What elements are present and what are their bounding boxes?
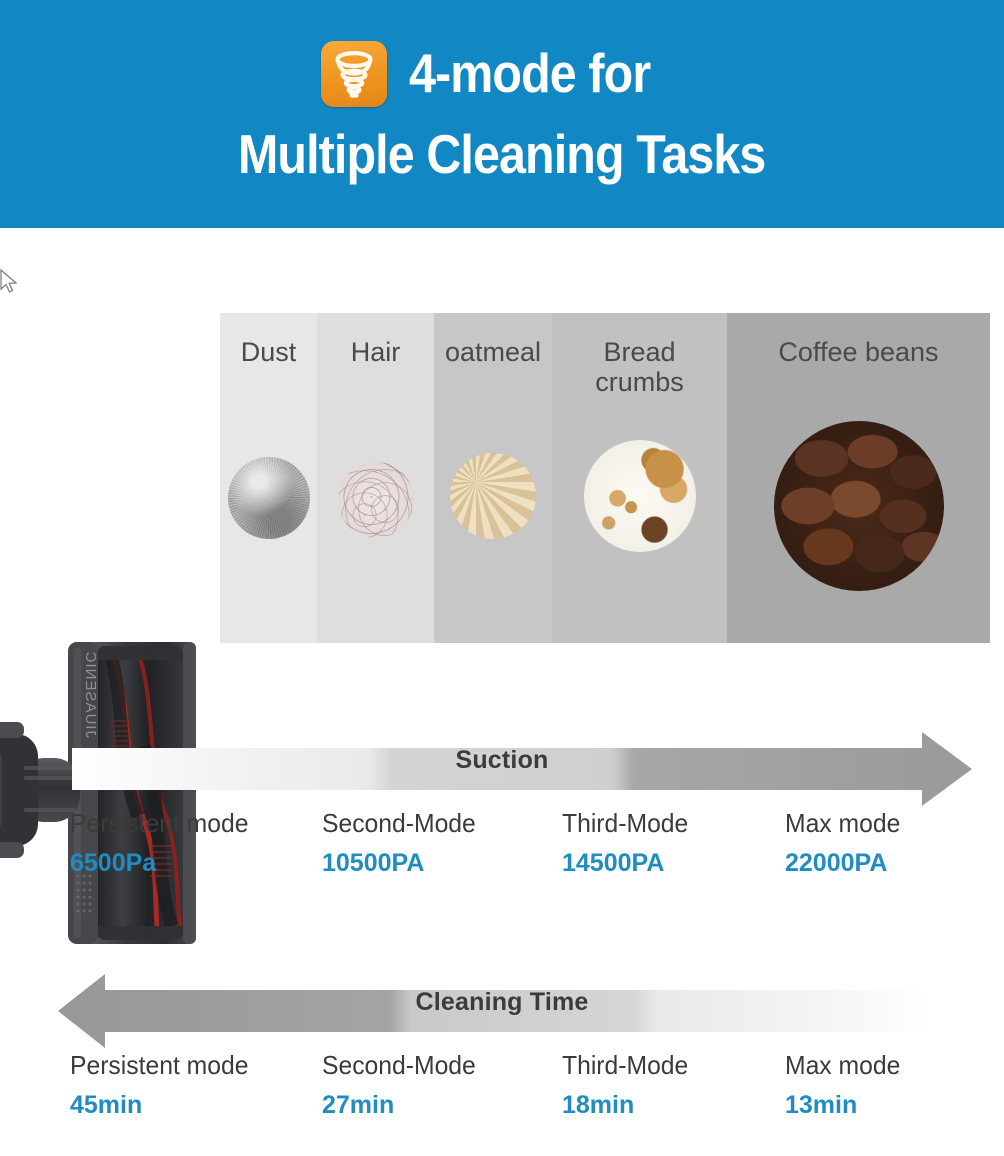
mode-item: Persistent mode 6500Pa — [70, 808, 258, 878]
material-label: Coffee beans — [727, 337, 990, 367]
mode-item: Third-Mode 14500PA — [562, 808, 695, 878]
svg-text:JIUASENIC: JIUASENIC — [82, 651, 99, 738]
header-title-row: 4-mode for — [321, 41, 683, 107]
sample-hair-tangle — [338, 462, 414, 538]
mode-item: Persistent mode 45min — [70, 1050, 258, 1120]
suction-modes: Persistent mode 6500Pa Second-Mode 10500… — [0, 808, 1004, 903]
material-columns: Dust Hair oatmeal Breadcrumbs Coffee bea… — [220, 313, 990, 643]
sample-coffee-beans — [774, 421, 944, 591]
material-column-hair: Hair — [317, 313, 434, 643]
mode-value: 10500PA — [322, 848, 484, 878]
header-title-line2: Multiple Cleaning Tasks — [238, 127, 766, 182]
mode-name: Second-Mode — [322, 808, 476, 838]
suction-arrow-label: Suction — [0, 746, 1004, 775]
mode-name: Persistent mode — [70, 808, 248, 838]
cleaning-time-section: Cleaning Time Persistent mode 45min Seco… — [0, 972, 1004, 1050]
materials-strip: JIUASENIC — [0, 313, 1004, 643]
mode-name: Max mode — [785, 1050, 900, 1080]
mode-item: Max mode 22000PA — [785, 808, 906, 878]
sample-bread-crumbs — [584, 440, 696, 552]
header-banner: 4-mode for Multiple Cleaning Tasks — [0, 0, 1004, 228]
material-column-coffee-beans: Coffee beans — [727, 313, 990, 643]
sample-dust-powder — [228, 457, 310, 539]
material-label: Dust — [220, 337, 317, 367]
mode-value: 14500PA — [562, 848, 695, 878]
mode-name: Max mode — [785, 808, 900, 838]
material-label: oatmeal — [434, 337, 552, 367]
mode-name: Second-Mode — [322, 1050, 476, 1080]
mode-name: Third-Mode — [562, 808, 688, 838]
cleaning-time-modes: Persistent mode 45min Second-Mode 27min … — [0, 1050, 1004, 1145]
mode-item: Third-Mode 18min — [562, 1050, 695, 1120]
header-title-line1: 4-mode for — [409, 46, 650, 101]
mode-value: 13min — [785, 1090, 906, 1120]
material-column-bread-crumbs: Breadcrumbs — [552, 313, 727, 643]
suction-section: Suction Persistent mode 6500Pa Second-Mo… — [0, 730, 1004, 808]
mode-name: Persistent mode — [70, 1050, 248, 1080]
material-column-dust: Dust — [220, 313, 317, 643]
material-label: Breadcrumbs — [552, 337, 727, 397]
material-column-oatmeal: oatmeal — [434, 313, 552, 643]
mode-item: Second-Mode 27min — [322, 1050, 484, 1120]
mouse-pointer-icon — [0, 268, 20, 294]
mode-item: Max mode 13min — [785, 1050, 906, 1120]
suction-arrow-graphic: Suction — [0, 730, 1004, 808]
mode-value: 45min — [70, 1090, 258, 1120]
sample-oat-flakes — [450, 453, 536, 539]
cleaning-time-arrow-graphic: Cleaning Time — [0, 972, 1004, 1050]
mode-item: Second-Mode 10500PA — [322, 808, 484, 878]
tornado-icon — [321, 41, 387, 107]
mode-value: 6500Pa — [70, 848, 258, 878]
mode-value: 27min — [322, 1090, 484, 1120]
cleaning-time-arrow-label: Cleaning Time — [0, 988, 1004, 1017]
mode-value: 22000PA — [785, 848, 906, 878]
material-label: Hair — [317, 337, 434, 367]
mode-value: 18min — [562, 1090, 695, 1120]
mode-name: Third-Mode — [562, 1050, 688, 1080]
